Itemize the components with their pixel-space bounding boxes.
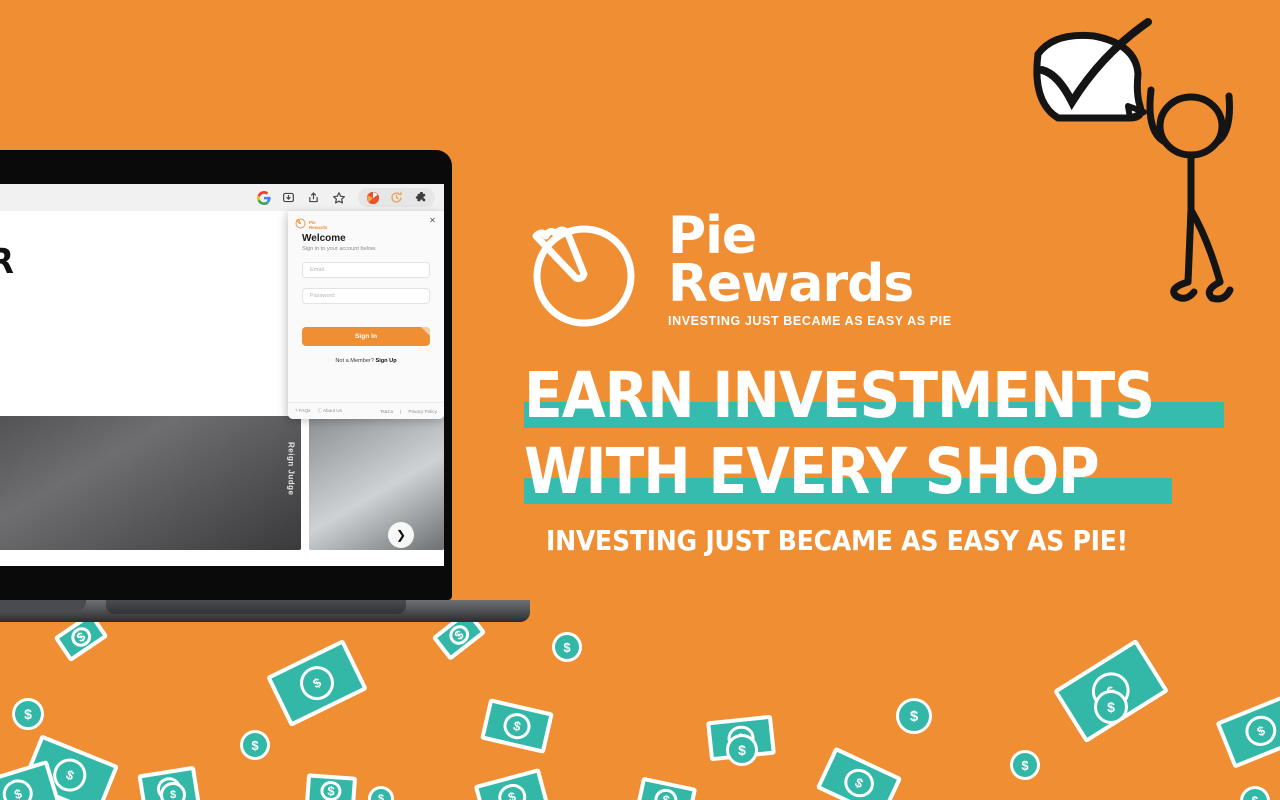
- extension-pinned-group: [358, 188, 435, 207]
- pie-rewards-small-logo-icon: [295, 216, 306, 234]
- faq-label: FAQs: [299, 408, 311, 413]
- chevron-right-icon[interactable]: ❯: [388, 522, 414, 548]
- info-icon: ⓘ: [317, 408, 322, 413]
- coin-symbol: $: [1094, 690, 1128, 724]
- stick-figure-illustration: [1010, 14, 1260, 344]
- dollar-bill: [816, 747, 903, 800]
- carousel-caption: Reign Judge: [287, 442, 296, 496]
- coin-symbol: $: [160, 782, 186, 800]
- coin-symbol: $: [552, 632, 582, 662]
- close-x-icon[interactable]: ✕: [427, 215, 438, 226]
- dollar-coin: $: [1094, 690, 1128, 724]
- site-hero-title-line1: SENTIALS FOR: [0, 245, 206, 280]
- share-icon[interactable]: [306, 190, 321, 205]
- headline-row-1: EARN INVESTMENTS: [524, 360, 1264, 436]
- pie-rewards-extension-icon[interactable]: [365, 190, 380, 205]
- dollar-bill: [266, 639, 368, 727]
- dollar-coin: $: [368, 786, 394, 800]
- headline-row-2: WITH EVERY SHOP: [524, 436, 1264, 512]
- popup-logo: Pie Rewards: [295, 216, 327, 234]
- email-field[interactable]: Email: [302, 262, 430, 278]
- brand-name: Pie Rewards INVESTING JUST BECAME AS EAS…: [668, 212, 952, 328]
- popup-logo-line2: Rewards: [309, 225, 327, 230]
- dollar-bill: [635, 777, 697, 800]
- dollar-coin: $: [240, 730, 270, 760]
- download-icon[interactable]: [281, 190, 296, 205]
- laptop-base: [0, 600, 530, 622]
- signup-prompt: Not a Member? Sign Up: [302, 358, 430, 364]
- faq-link[interactable]: question-mark-icon? FAQs: [295, 408, 310, 414]
- google-g-icon[interactable]: [256, 190, 271, 205]
- site-hero-body: sics that let you move freely and expres…: [0, 328, 76, 358]
- popup-footer-left: question-mark-icon? FAQs ⓘ About Us: [295, 408, 342, 414]
- coin-symbol: $: [726, 734, 758, 766]
- dollar-bill: [1215, 693, 1280, 769]
- coin-symbol: $: [368, 786, 394, 800]
- hero-headline: EARN INVESTMENTS WITH EVERY SHOP INVESTI…: [524, 360, 1264, 557]
- coin-symbol: $: [1010, 750, 1040, 780]
- dollar-bill: [480, 698, 554, 754]
- dollar-coin: $: [1240, 786, 1270, 800]
- pie-chart-slice-icon: [524, 216, 644, 328]
- speech-bubble-checkmark: [1037, 22, 1148, 118]
- sign-in-label: Sign In: [355, 333, 377, 340]
- laptop-base-notch: [0, 600, 86, 611]
- bookmark-star-icon[interactable]: [331, 190, 346, 205]
- carousel-card[interactable]: ❯: [309, 416, 444, 550]
- laptop-mockup: n Kids Accessories Sale SENTIALS FOR RY …: [0, 150, 456, 632]
- popup-header: Pie Rewards ✕: [288, 211, 444, 233]
- site-hero-body-line2: u, you.: [0, 343, 76, 358]
- footer-separator: |: [400, 409, 401, 414]
- dollar-coin: $: [160, 782, 186, 800]
- headline-line1: EARN INVESTMENTS: [524, 360, 1264, 432]
- about-us-link[interactable]: ⓘ About Us: [317, 408, 342, 414]
- about-us-label: About Us: [323, 408, 342, 413]
- coin-symbol: $: [896, 698, 932, 734]
- carousel-card[interactable]: Reign Judge: [0, 416, 301, 550]
- site-hero: SENTIALS FOR RY MOOD sics that let you m…: [0, 245, 206, 399]
- coin-symbol: $: [240, 730, 270, 760]
- popup-title: Welcome: [302, 233, 430, 244]
- laptop-screen: n Kids Accessories Sale SENTIALS FOR RY …: [0, 184, 444, 566]
- promo-banner: $ $ $ $ $ $ $ $ $ $: [0, 0, 1280, 800]
- terms-link[interactable]: Ts&Cs: [380, 409, 393, 414]
- popup-footer: question-mark-icon? FAQs ⓘ About Us Ts&C…: [288, 402, 444, 419]
- browser-toolbar: [0, 184, 444, 211]
- dollar-coin: $: [896, 698, 932, 734]
- brand-lockup: Pie Rewards INVESTING JUST BECAME AS EAS…: [524, 212, 964, 332]
- site-hero-body-line1: sics that let you move freely and expres…: [0, 328, 76, 343]
- popup-footer-right: Ts&Cs | Privacy Policy: [380, 409, 437, 414]
- laptop-lid: n Kids Accessories Sale SENTIALS FOR RY …: [0, 150, 452, 600]
- puzzle-extensions-icon[interactable]: [413, 190, 428, 205]
- pie-rewards-extension-popup: Pie Rewards ✕ Welcome Sign in to your ac…: [288, 211, 444, 419]
- dollar-bill: [305, 773, 357, 800]
- dollar-coin: $: [12, 698, 44, 730]
- popup-logo-text: Pie Rewards: [309, 220, 327, 230]
- site-carousel[interactable]: 1/8 Miyako Bellizzi Reign Judge ❯: [0, 416, 444, 550]
- site-hero-title-line2: RY MOOD: [0, 280, 206, 315]
- headline-line2: WITH EVERY SHOP: [524, 436, 1264, 508]
- dollar-bill: [474, 768, 551, 800]
- password-field[interactable]: Password: [302, 288, 430, 304]
- privacy-policy-link[interactable]: Privacy Policy: [408, 409, 437, 414]
- dollar-coin: $: [552, 632, 582, 662]
- stick-figure-body: [1150, 90, 1230, 299]
- brand-name-line1: Pie: [668, 212, 952, 260]
- hero-subheadline: INVESTING JUST BECAME AS EASY AS PIE!: [546, 524, 1264, 557]
- history-clock-icon[interactable]: [389, 190, 404, 205]
- dollar-coin: $: [1010, 750, 1040, 780]
- coin-symbol: $: [1240, 786, 1270, 800]
- sign-in-button[interactable]: Sign In: [302, 327, 430, 346]
- popup-body: Welcome Sign in to your account below. E…: [288, 233, 444, 364]
- sign-up-link[interactable]: Sign Up: [375, 358, 396, 364]
- coin-symbol: $: [12, 698, 44, 730]
- site-hero-buttons: Watch ▶: [0, 374, 206, 399]
- brand-tagline: INVESTING JUST BECAME AS EASY AS PIE: [668, 314, 952, 328]
- dollar-coin: $: [726, 734, 758, 766]
- popup-subtitle: Sign in to your account below.: [302, 246, 430, 252]
- signup-prompt-text: Not a Member?: [335, 358, 374, 364]
- brand-name-line2: Rewards: [668, 260, 952, 308]
